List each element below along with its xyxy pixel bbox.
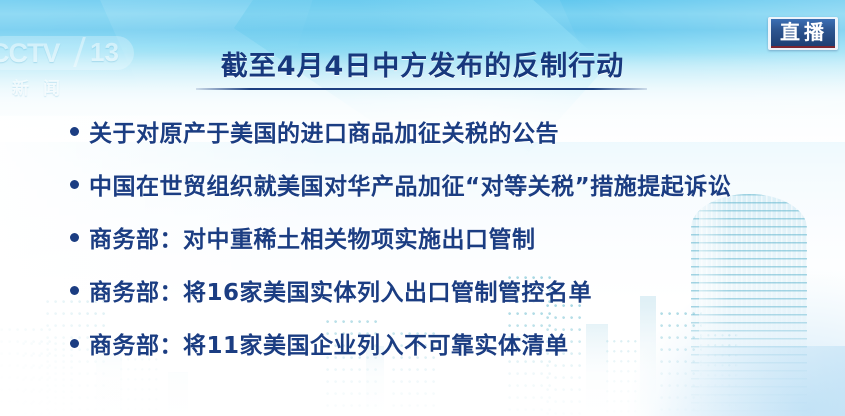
bullet-dot-icon — [70, 233, 79, 242]
list-item: 商务部：对中重稀土相关物项实施出口管制 — [70, 210, 825, 263]
bullet-dot-icon — [70, 180, 79, 189]
list-item-label: 商务部：对中重稀土相关物项实施出口管制 — [89, 220, 536, 254]
bullet-dot-icon — [70, 286, 79, 295]
list-item-label: 商务部：将11家美国企业列入不可靠实体清单 — [89, 326, 569, 360]
list-item-label: 关于对原产于美国的进口商品加征关税的公告 — [89, 114, 559, 148]
countermeasure-list: 关于对原产于美国的进口商品加征关税的公告 中国在世贸组织就美国对华产品加征“对等… — [70, 104, 825, 369]
headline-underline — [196, 88, 647, 90]
list-item: 关于对原产于美国的进口商品加征关税的公告 — [70, 104, 825, 157]
headline-container: 截至4月4日中方发布的反制行动 — [0, 44, 845, 90]
list-item-label: 中国在世贸组织就美国对华产品加征“对等关税”措施提起诉讼 — [89, 167, 731, 201]
list-item-label: 商务部：将16家美国实体列入出口管制管控名单 — [89, 273, 592, 307]
building-dotted-3 — [22, 342, 76, 416]
building-solid-2 — [168, 372, 188, 416]
list-item: 商务部：将11家美国企业列入不可靠实体清单 — [70, 316, 825, 369]
broadcast-screen: CCTV 13 新闻 直播 截至4月4日中方发布的反制行动 关于对原产于美国的进… — [0, 0, 845, 416]
list-item: 中国在世贸组织就美国对华产品加征“对等关税”措施提起诉讼 — [70, 157, 825, 210]
bullet-dot-icon — [70, 127, 79, 136]
page-title: 截至4月4日中方发布的反制行动 — [221, 44, 625, 90]
bullet-dot-icon — [70, 339, 79, 348]
building-dotted-1 — [0, 328, 56, 416]
list-item: 商务部：将16家美国实体列入出口管制管控名单 — [70, 263, 825, 316]
